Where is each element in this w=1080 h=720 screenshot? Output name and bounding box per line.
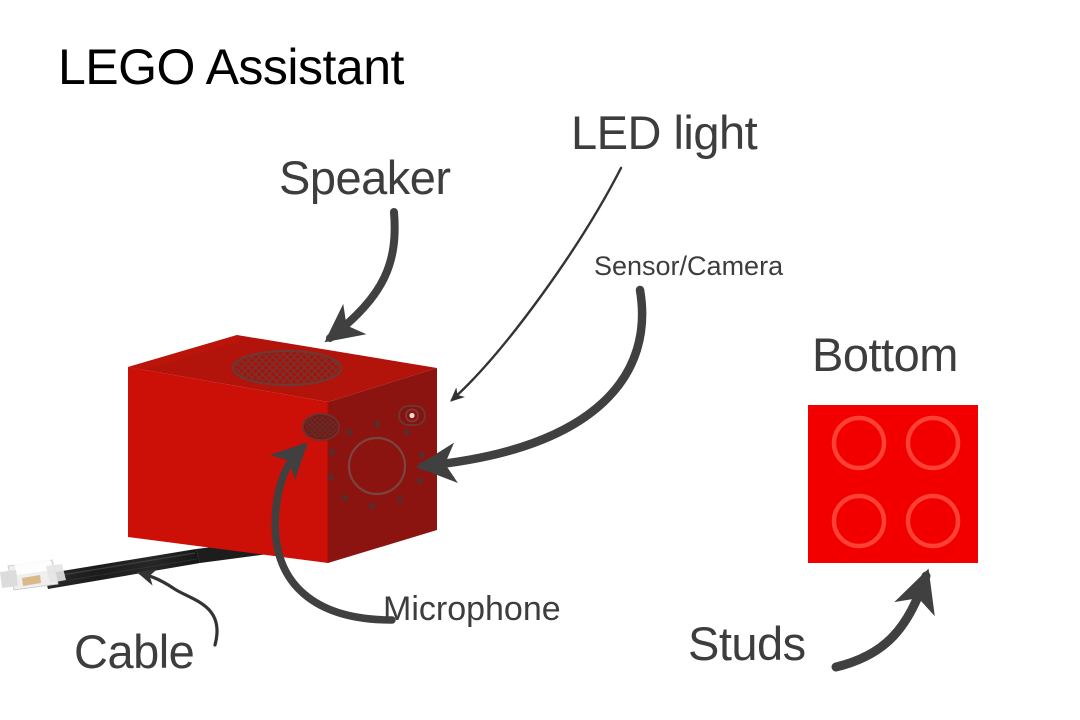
led-light-label: LED light — [571, 109, 757, 156]
speaker-label: Speaker — [279, 154, 451, 201]
led-arrow — [452, 168, 621, 400]
speaker-arrow — [330, 212, 395, 338]
microphone-label: Microphone — [383, 592, 561, 626]
sensor-camera-label: Sensor/Camera — [594, 253, 783, 280]
slide-canvas: LEGO Assistant Speaker LED light Sensor/… — [0, 0, 1080, 720]
led-indicator — [399, 406, 425, 425]
studs-label: Studs — [688, 620, 806, 667]
studs-arrow — [836, 576, 926, 667]
cube-body — [128, 335, 437, 563]
page-title: LEGO Assistant — [58, 42, 404, 92]
sensor-camera-arrow — [423, 290, 642, 466]
cable-label: Cable — [74, 628, 194, 675]
bottom-label: Bottom — [812, 331, 958, 378]
bottom-brick — [808, 405, 978, 563]
